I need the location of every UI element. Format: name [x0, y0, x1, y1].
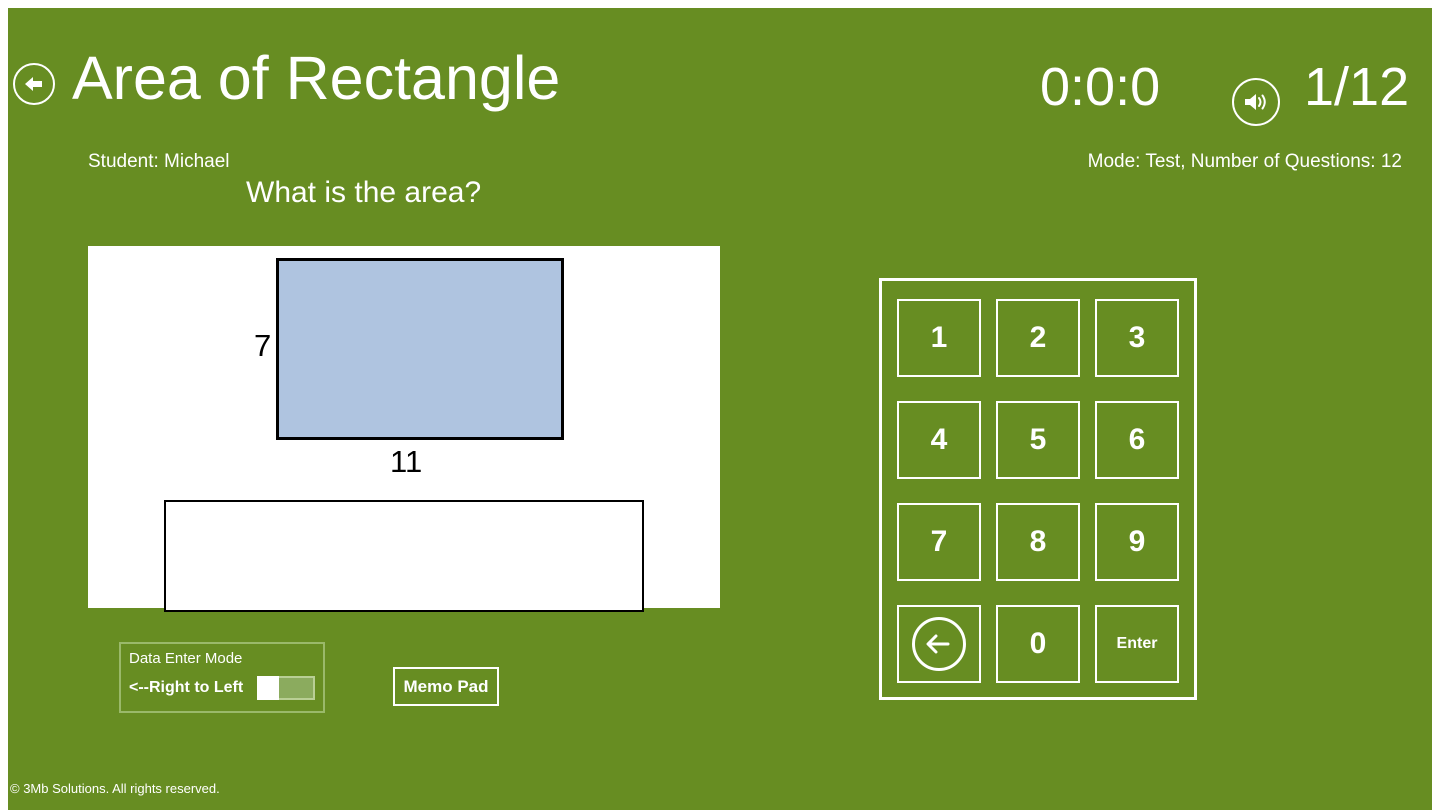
- speaker-icon: [1242, 90, 1270, 114]
- key-8-label: 8: [1030, 525, 1047, 559]
- timer-display: 0:0:0: [1040, 60, 1160, 114]
- page-title: Area of Rectangle: [72, 48, 560, 109]
- key-2-label: 2: [1030, 321, 1047, 355]
- rectangle-shape: [276, 258, 564, 440]
- key-7[interactable]: 7: [897, 503, 981, 581]
- key-3[interactable]: 3: [1095, 299, 1179, 377]
- key-4[interactable]: 4: [897, 401, 981, 479]
- key-6-label: 6: [1129, 423, 1146, 457]
- key-1-label: 1: [931, 321, 948, 355]
- key-7-label: 7: [931, 525, 948, 559]
- key-6[interactable]: 6: [1095, 401, 1179, 479]
- problem-canvas: 7 11: [88, 246, 720, 608]
- app-window: Area of Rectangle 0:0:0 1/12 Student: Mi…: [8, 8, 1432, 810]
- key-1[interactable]: 1: [897, 299, 981, 377]
- rectangle-width-label: 11: [390, 446, 422, 477]
- memo-pad-button[interactable]: Memo Pad: [393, 667, 499, 706]
- toggle-knob: [257, 676, 279, 700]
- key-9[interactable]: 9: [1095, 503, 1179, 581]
- question-prompt: What is the area?: [246, 176, 481, 210]
- numeric-keypad: 1234567890Enter: [879, 278, 1197, 700]
- rectangle-height-label: 7: [254, 330, 271, 361]
- key-0[interactable]: 0: [996, 605, 1080, 683]
- app-header: Area of Rectangle 0:0:0 1/12: [8, 8, 1432, 138]
- data-enter-mode-title: Data Enter Mode: [129, 650, 315, 667]
- key-backspace[interactable]: [897, 605, 981, 683]
- key-4-label: 4: [931, 423, 948, 457]
- data-enter-mode-toggle[interactable]: [257, 676, 315, 700]
- key-9-label: 9: [1129, 525, 1146, 559]
- keypad-grid: 1234567890Enter: [897, 299, 1179, 683]
- mode-info-label: Mode: Test, Number of Questions: 12: [1088, 151, 1402, 173]
- key-5[interactable]: 5: [996, 401, 1080, 479]
- data-enter-mode-row: <--Right to Left: [129, 676, 315, 700]
- back-arrow-icon: [22, 74, 46, 94]
- student-name-label: Student: Michael: [88, 151, 230, 173]
- key-5-label: 5: [1030, 423, 1047, 457]
- key-3-label: 3: [1129, 321, 1146, 355]
- sound-button[interactable]: [1232, 78, 1280, 126]
- footer-copyright: © 3Mb Solutions. All rights reserved.: [10, 781, 220, 796]
- data-enter-mode-panel: Data Enter Mode <--Right to Left: [119, 642, 325, 713]
- back-button[interactable]: [13, 63, 55, 105]
- key-enter-label: Enter: [1117, 635, 1158, 653]
- key-enter[interactable]: Enter: [1095, 605, 1179, 683]
- data-enter-direction-label: <--Right to Left: [129, 679, 243, 697]
- back-arrow-circle-icon: [912, 617, 966, 671]
- key-0-label: 0: [1030, 627, 1047, 661]
- key-2[interactable]: 2: [996, 299, 1080, 377]
- key-8[interactable]: 8: [996, 503, 1080, 581]
- answer-input[interactable]: [164, 500, 644, 612]
- question-counter: 1/12: [1304, 60, 1409, 114]
